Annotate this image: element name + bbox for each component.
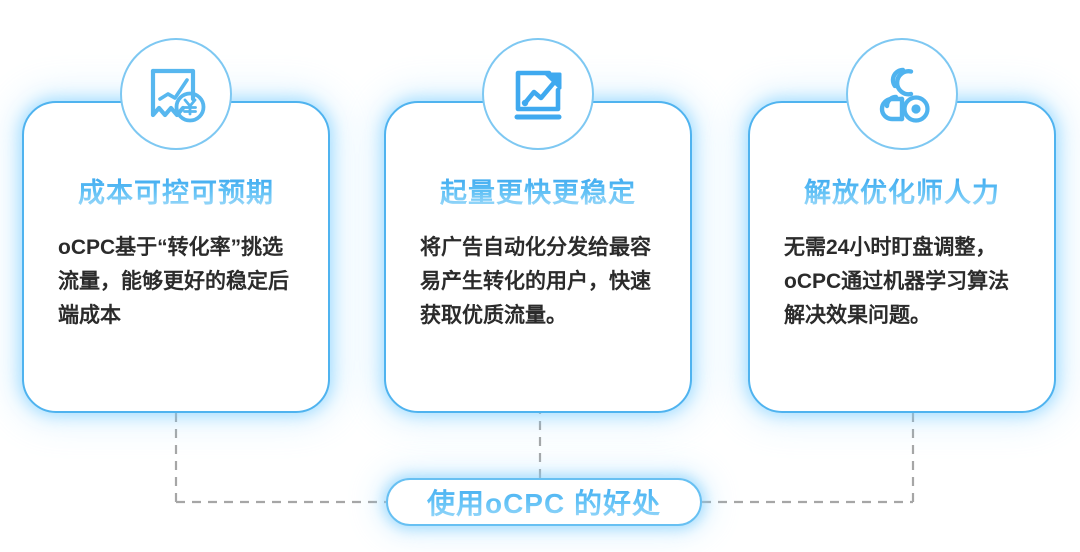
card-title: 成本可控可预期 (24, 177, 328, 209)
bottom-pill-label: 使用oCPC 的好处 (427, 482, 661, 522)
card-body: 无需24小时盯盘调整，oCPC通过机器学习算法解决效果问题。 (784, 231, 1028, 333)
receipt-chart-yen-icon (120, 38, 232, 150)
benefit-card-free-optimizer[interactable]: 解放优化师人力 无需24小时盯盘调整，oCPC通过机器学习算法解决效果问题。 (748, 101, 1056, 413)
card-body: oCPC基于“转化率”挑选流量，能够更好的稳定后端成本 (58, 231, 302, 333)
card-title: 起量更快更稳定 (386, 177, 690, 209)
card-title: 解放优化师人力 (750, 177, 1054, 209)
card-body: 将广告自动化分发给最容易产生转化的用户，快速获取优质流量。 (420, 231, 664, 333)
people-group-settings-icon (846, 38, 958, 150)
growth-chart-arrow-icon (482, 38, 594, 150)
benefit-card-faster-volume[interactable]: 起量更快更稳定 将广告自动化分发给最容易产生转化的用户，快速获取优质流量。 (384, 101, 692, 413)
infographic-canvas: 成本可控可预期 oCPC基于“转化率”挑选流量，能够更好的稳定后端成本 起量更快… (0, 0, 1080, 552)
bottom-summary-pill[interactable]: 使用oCPC 的好处 (386, 478, 702, 526)
benefit-card-cost-controllable[interactable]: 成本可控可预期 oCPC基于“转化率”挑选流量，能够更好的稳定后端成本 (22, 101, 330, 413)
